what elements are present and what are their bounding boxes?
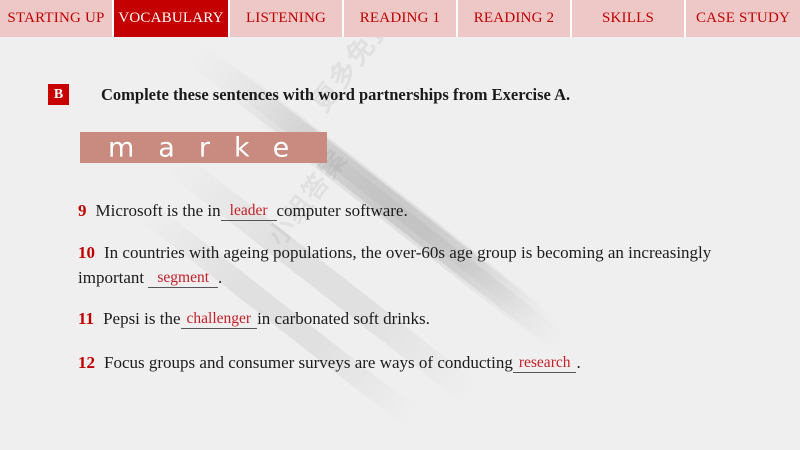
sentence-number: 12 <box>78 353 95 372</box>
watermark-layer: 更多免费学习资料尽在 小组答案 <box>0 0 800 450</box>
answer-blank-research[interactable]: research <box>513 354 577 373</box>
tab-label: READING 2 <box>474 10 555 27</box>
word-reveal-banner: marke <box>80 132 327 163</box>
tab-starting-up[interactable]: STARTING UP <box>0 0 114 37</box>
answer-blank-leader[interactable]: leader <box>221 202 277 221</box>
sentence-item: 12Focus groups and consumer surveys are … <box>78 350 581 375</box>
tab-listening[interactable]: LISTENING <box>230 0 344 37</box>
sentence-item: 9Microsoft is the inleadercomputer softw… <box>78 198 408 223</box>
sentence-text-after: . <box>576 353 580 372</box>
exercise-badge: B <box>48 84 69 105</box>
slide-canvas: 更多免费学习资料尽在 小组答案 STARTING UP VOCABULARY L… <box>0 0 800 450</box>
tab-label: READING 1 <box>360 10 441 27</box>
tab-label: STARTING UP <box>7 10 104 27</box>
sentence-number: 10 <box>78 243 95 262</box>
sentence-item: 11Pepsi is thechallengerin carbonated so… <box>78 306 430 331</box>
sentence-text-after: in carbonated soft drinks. <box>257 309 430 328</box>
exercise-instruction-row: B Complete these sentences with word par… <box>48 84 570 105</box>
tab-label: VOCABULARY <box>118 10 223 27</box>
tab-skills[interactable]: SKILLS <box>572 0 686 37</box>
answer-blank-challenger[interactable]: challenger <box>181 310 258 329</box>
sentence-number: 11 <box>78 309 94 328</box>
tab-case-study[interactable]: CASE STUDY <box>686 0 800 37</box>
word-reveal-bar: marke <box>80 132 327 163</box>
sentence-number: 9 <box>78 201 87 220</box>
sentence-text-before: Focus groups and consumer surveys are wa… <box>104 353 513 372</box>
tab-label: CASE STUDY <box>696 10 790 27</box>
exercise-instruction-text: Complete these sentences with word partn… <box>101 85 570 105</box>
sentence-item: 10In countries with ageing populations, … <box>78 240 728 290</box>
tab-label: LISTENING <box>246 10 326 27</box>
sentence-text-before: Pepsi is the <box>103 309 180 328</box>
answer-blank-segment[interactable]: segment <box>148 269 218 288</box>
word-reveal-text: marke <box>108 134 313 161</box>
tab-vocabulary[interactable]: VOCABULARY <box>114 0 230 37</box>
sentence-text-after: computer software. <box>277 201 408 220</box>
section-tab-bar: STARTING UP VOCABULARY LISTENING READING… <box>0 0 800 37</box>
sentence-text-after: . <box>218 268 222 287</box>
sentence-text-before: Microsoft is the in <box>96 201 221 220</box>
tab-reading-2[interactable]: READING 2 <box>458 0 572 37</box>
tab-reading-1[interactable]: READING 1 <box>344 0 458 37</box>
tab-label: SKILLS <box>602 10 654 27</box>
